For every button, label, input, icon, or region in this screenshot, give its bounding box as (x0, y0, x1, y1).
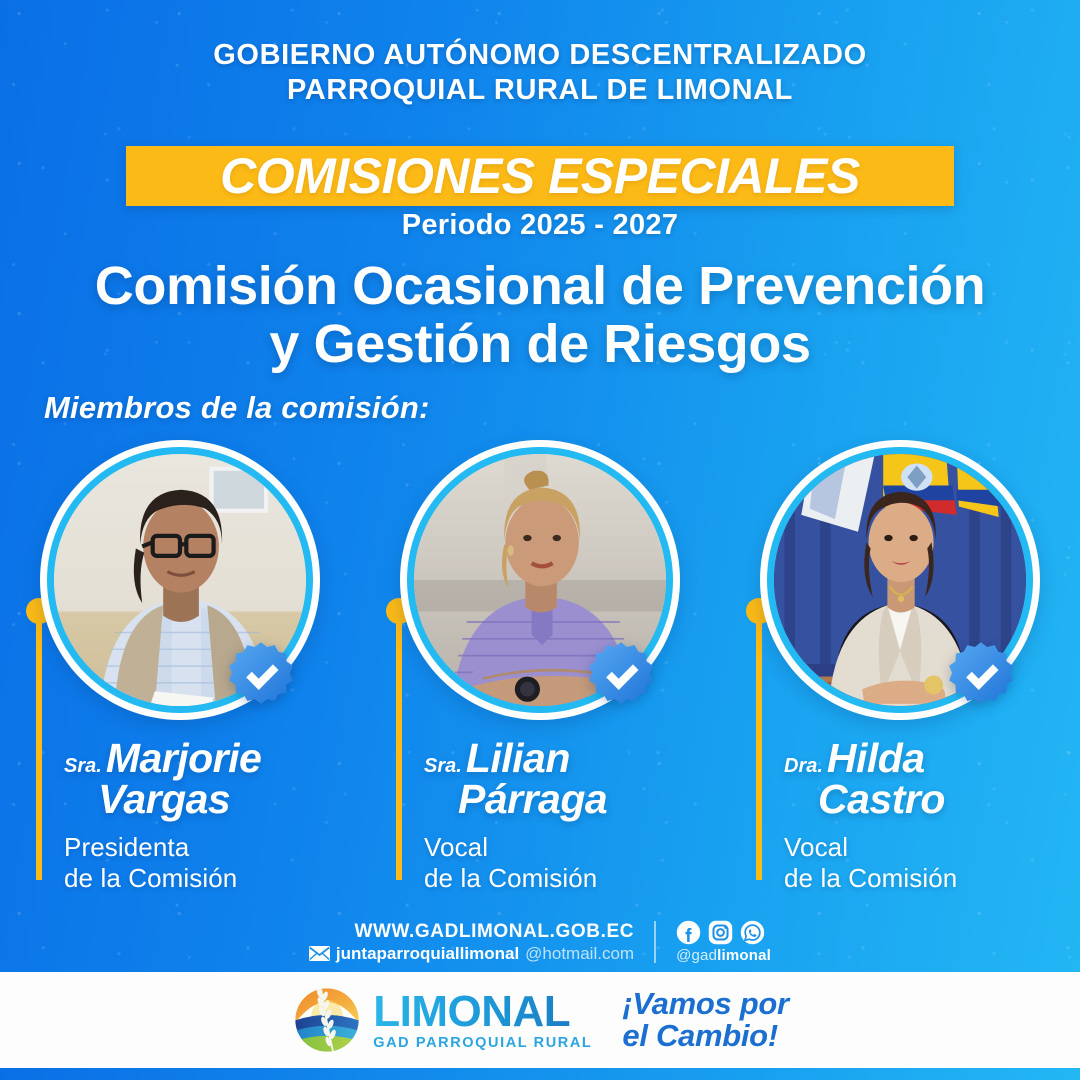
member-role-line-2: de la Comisión (784, 863, 957, 893)
gov-title-line-1: GOBIERNO AUTÓNOMO DESCENTRALIZADO (213, 39, 867, 71)
commission-title-line-1: Comisión Ocasional de Prevención (95, 256, 985, 316)
slogan-line-1: ¡Vamos por (622, 986, 788, 1021)
member-role: Vocal de la Comisión (784, 832, 1072, 893)
logo-wordmark: LIMONAL GAD PARROQUIAL RURAL (373, 990, 592, 1051)
instagram-icon[interactable] (708, 920, 733, 945)
divider (654, 921, 656, 963)
whatsapp-icon[interactable] (740, 920, 765, 945)
members-heading: Miembros de la comisión: (44, 390, 430, 426)
commission-title-line-2: y Gestión de Riesgos (269, 314, 810, 374)
pin-marker-icon (26, 598, 52, 880)
slogan: ¡Vamos por el Cambio! (622, 988, 788, 1051)
member-photo-frame (760, 440, 1040, 720)
member-honorific: Sra. (64, 755, 102, 777)
member-role-line-2: de la Comisión (424, 863, 597, 893)
member-card: Dra.Hilda Castro Vocal de la Comisión (720, 440, 1080, 900)
member-name-line-1: Dra.Hilda (784, 738, 1072, 779)
banner-word-1: COMISIONES (220, 148, 534, 204)
member-photo-frame (400, 440, 680, 720)
verified-check-icon (224, 640, 298, 714)
member-first-name: Lilian (466, 735, 570, 781)
member-last-name: Castro (784, 779, 1072, 820)
envelope-icon (309, 946, 330, 961)
member-last-name: Párraga (424, 779, 712, 820)
period-label: Periodo 2025 - 2027 (0, 209, 1080, 242)
limonal-logo: LIMONAL GAD PARROQUIAL RURAL (291, 984, 592, 1056)
email-row[interactable]: juntaparroquiallimonal@hotmail.com (309, 944, 634, 964)
member-honorific: Dra. (784, 755, 823, 777)
commissions-banner: COMISIONES ESPECIALES (126, 146, 954, 206)
member-last-name: Vargas (64, 779, 352, 820)
member-first-name: Marjorie (106, 735, 262, 781)
banner-text: COMISIONES ESPECIALES (220, 151, 860, 201)
verified-check-icon (944, 640, 1018, 714)
banner-word-2: ESPECIALES (548, 148, 860, 204)
member-name-block: Dra.Hilda Castro Vocal de la Comisión (784, 738, 1072, 893)
commission-title: Comisión Ocasional de Prevención y Gesti… (40, 258, 1040, 374)
gov-title-line-2: PARROQUIAL RURAL DE LIMONAL (0, 73, 1080, 108)
social-icons (676, 920, 771, 945)
email-domain: @hotmail.com (525, 944, 634, 964)
member-name-line-1: Sra.Marjorie (64, 738, 352, 779)
email-user: juntaparroquiallimonal (336, 944, 519, 964)
limonal-emblem-icon (291, 984, 363, 1056)
member-role-line-1: Vocal (784, 832, 848, 862)
member-honorific: Sra. (424, 755, 462, 777)
facebook-icon[interactable] (676, 920, 701, 945)
members-row: Sra.Marjorie Vargas Presidenta de la Com… (0, 440, 1080, 900)
member-name-block: Sra.Lilian Párraga Vocal de la Comisión (424, 738, 712, 893)
handle-prefix: @gad (676, 947, 717, 964)
handle-suffix: limonal (717, 947, 771, 964)
member-role: Vocal de la Comisión (424, 832, 712, 893)
website-link[interactable]: WWW.GADLIMONAL.GOB.EC (309, 921, 634, 943)
social-handle: @gadlimonal (676, 947, 771, 964)
verified-check-icon (584, 640, 658, 714)
contact-strip: WWW.GADLIMONAL.GOB.EC juntaparroquiallim… (0, 916, 1080, 968)
contact-right: @gadlimonal (676, 920, 771, 964)
pin-marker-icon (386, 598, 412, 880)
logo-name: LIMONAL (373, 987, 570, 1036)
slogan-line-2: el Cambio! (622, 1018, 777, 1053)
member-name-block: Sra.Marjorie Vargas Presidenta de la Com… (64, 738, 352, 893)
member-photo-frame (40, 440, 320, 720)
pin-marker-icon (746, 598, 772, 880)
member-card: Sra.Lilian Párraga Vocal de la Comisión (360, 440, 720, 900)
poster-canvas: GOBIERNO AUTÓNOMO DESCENTRALIZADO PARROQ… (0, 0, 1080, 1080)
member-role-line-2: de la Comisión (64, 863, 237, 893)
member-role-line-1: Presidenta (64, 832, 189, 862)
bottom-accent-strip (0, 1068, 1080, 1080)
member-role-line-1: Vocal (424, 832, 488, 862)
contact-left: WWW.GADLIMONAL.GOB.EC juntaparroquiallim… (309, 921, 634, 963)
page-title: GOBIERNO AUTÓNOMO DESCENTRALIZADO PARROQ… (0, 38, 1080, 109)
logo-subtitle: GAD PARROQUIAL RURAL (373, 1036, 592, 1051)
footer-bar: LIMONAL GAD PARROQUIAL RURAL ¡Vamos por … (0, 972, 1080, 1068)
member-role: Presidenta de la Comisión (64, 832, 352, 893)
member-card: Sra.Marjorie Vargas Presidenta de la Com… (0, 440, 360, 900)
member-name-line-1: Sra.Lilian (424, 738, 712, 779)
member-first-name: Hilda (827, 735, 925, 781)
